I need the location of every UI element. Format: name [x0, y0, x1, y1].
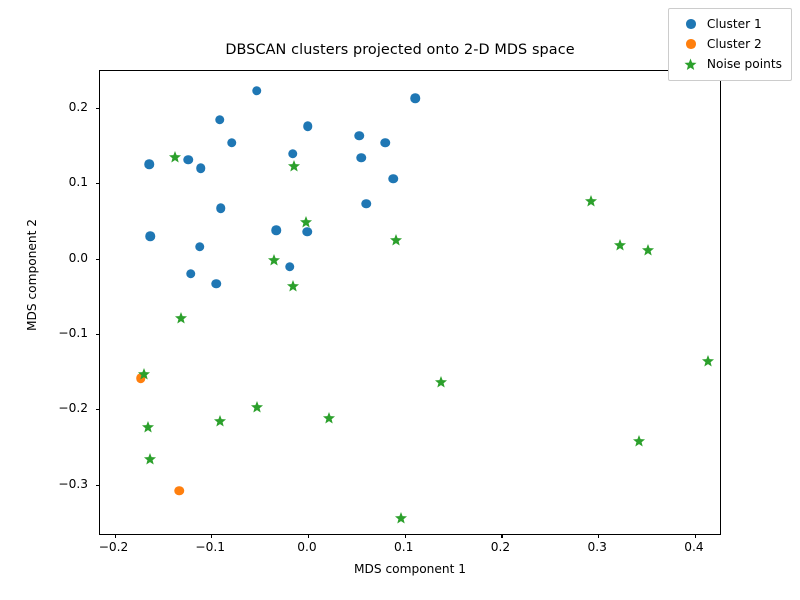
- legend-item[interactable]: Cluster 2: [678, 34, 782, 54]
- y-tick-label: −0.2: [0, 401, 88, 415]
- data-point: [250, 398, 263, 411]
- data-point: [183, 155, 193, 165]
- y-axis-label: MDS component 2: [25, 95, 39, 455]
- plot-axes-frame: [99, 70, 721, 535]
- data-point: [144, 450, 157, 463]
- data-point: [641, 242, 654, 255]
- x-tick-label: 0.4: [684, 540, 703, 554]
- x-tick-label: 0.0: [297, 540, 316, 554]
- y-tick-mark: [96, 485, 100, 486]
- data-point: [186, 269, 196, 279]
- y-tick-mark: [96, 108, 100, 109]
- x-tick-mark: [211, 534, 212, 538]
- data-point: [361, 199, 371, 209]
- y-tick-label: 0.1: [0, 175, 88, 189]
- x-tick-mark: [308, 534, 309, 538]
- legend-item-label: Cluster 1: [704, 17, 762, 31]
- data-point: [356, 153, 366, 163]
- y-tick-mark: [96, 334, 100, 335]
- data-point: [252, 86, 262, 96]
- data-point: [411, 93, 421, 103]
- x-tick-label: −0.1: [195, 540, 225, 554]
- y-tick-label: −0.3: [0, 477, 88, 491]
- data-point: [271, 225, 281, 235]
- x-tick-mark: [405, 534, 406, 538]
- data-point: [211, 279, 221, 289]
- legend-item-label: Noise points: [704, 57, 782, 71]
- data-point: [268, 251, 281, 264]
- data-point: [300, 214, 313, 227]
- data-point: [175, 309, 188, 322]
- data-point: [215, 115, 225, 125]
- legend-star-icon: [678, 58, 704, 71]
- data-point: [434, 373, 447, 386]
- data-point: [227, 138, 237, 148]
- data-point: [216, 203, 226, 213]
- legend: Cluster 1Cluster 2Noise points: [668, 8, 792, 81]
- legend-dot-icon: [678, 39, 704, 49]
- legend-item[interactable]: Noise points: [678, 54, 782, 74]
- data-point: [169, 149, 182, 162]
- data-point: [614, 236, 627, 249]
- figure-canvas: DBSCAN clusters projected onto 2-D MDS s…: [0, 0, 800, 600]
- x-tick-mark: [598, 534, 599, 538]
- data-point: [175, 486, 185, 496]
- legend-item[interactable]: Cluster 1: [678, 14, 782, 34]
- scatter-points-layer: [100, 71, 720, 534]
- y-tick-mark: [96, 183, 100, 184]
- data-point: [288, 158, 301, 171]
- data-point: [381, 138, 391, 148]
- data-point: [702, 352, 715, 365]
- data-point: [137, 365, 150, 378]
- data-point: [390, 232, 403, 245]
- data-point: [213, 413, 226, 426]
- data-point: [354, 131, 364, 141]
- x-axis-label: MDS component 1: [99, 562, 721, 576]
- x-tick-label: 0.2: [491, 540, 510, 554]
- legend-item-label: Cluster 2: [704, 37, 762, 51]
- data-point: [632, 432, 645, 445]
- data-point: [146, 231, 156, 241]
- y-tick-label: −0.1: [0, 326, 88, 340]
- y-tick-mark: [96, 259, 100, 260]
- legend-dot-icon: [678, 19, 704, 29]
- data-point: [196, 163, 206, 173]
- data-point: [323, 410, 336, 423]
- y-tick-label: 0.2: [0, 100, 88, 114]
- data-point: [388, 174, 398, 184]
- data-point: [145, 160, 155, 170]
- y-tick-mark: [96, 409, 100, 410]
- data-point: [394, 510, 407, 523]
- data-point: [142, 419, 155, 432]
- x-tick-mark: [115, 534, 116, 538]
- data-point: [287, 277, 300, 290]
- data-point: [303, 121, 313, 131]
- data-point: [285, 262, 295, 272]
- x-tick-label: 0.1: [394, 540, 413, 554]
- x-tick-label: −0.2: [99, 540, 129, 554]
- x-tick-label: 0.3: [587, 540, 606, 554]
- x-tick-mark: [695, 534, 696, 538]
- y-tick-label: 0.0: [0, 251, 88, 265]
- data-point: [195, 242, 205, 252]
- x-tick-mark: [501, 534, 502, 538]
- data-point: [585, 193, 598, 206]
